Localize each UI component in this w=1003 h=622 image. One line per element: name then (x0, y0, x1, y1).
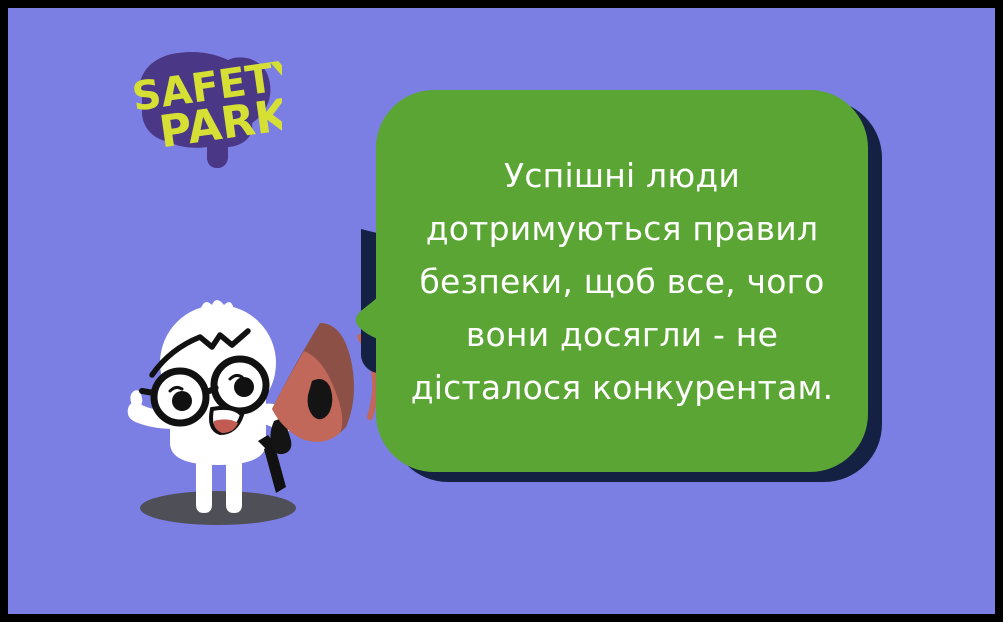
speech-bubble: Успішні люди дотримуються правил безпеки… (348, 78, 908, 498)
bubble-line-5: дісталося конкурентам. (411, 361, 834, 414)
safety-park-logo: SAFETY PARK (112, 44, 282, 178)
speech-bubble-text: Успішні люди дотримуються правил безпеки… (376, 90, 868, 472)
ground-shadow-icon (140, 491, 296, 525)
left-pupil (172, 391, 192, 411)
right-pupil (234, 377, 254, 397)
megaphone-mouth (308, 379, 333, 419)
poster-canvas: SAFETY PARK (8, 8, 995, 614)
bubble-line-4: вони досягли - не (466, 308, 778, 361)
bubble-line-3: безпеки, щоб все, чого (419, 255, 824, 308)
poster-frame: SAFETY PARK (0, 0, 1003, 622)
bubble-line-1: Успішні люди (504, 149, 740, 202)
bubble-line-2: дотримуються правил (426, 202, 819, 255)
